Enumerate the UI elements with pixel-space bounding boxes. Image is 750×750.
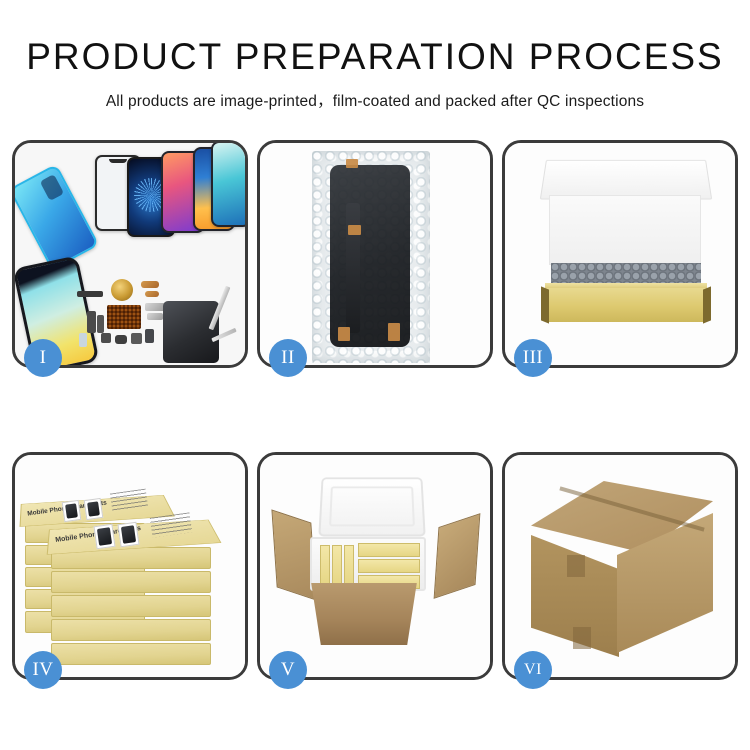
header: PRODUCT PREPARATION PROCESS All products… — [0, 38, 750, 111]
stacked-box-icon — [51, 643, 211, 665]
carton-flap-right-icon — [434, 513, 481, 599]
tape-piece-top-icon — [346, 159, 358, 168]
yellow-box-flat-icon — [358, 559, 420, 573]
logic-board-icon — [163, 301, 219, 363]
step-badge-1: I — [24, 339, 62, 377]
tape-piece-br-icon — [388, 323, 400, 341]
step-badge-5: V — [269, 651, 307, 689]
yellow-box-icon — [320, 545, 330, 587]
step-panel-4[interactable]: Mobile Phone Spare Parts Mobile Phone Sp… — [12, 452, 248, 680]
step-panel-5[interactable]: V — [257, 452, 493, 680]
sensor-part-icon — [97, 315, 104, 333]
metal-bracket-2-icon — [147, 313, 163, 320]
flex-cable-strip-icon — [346, 203, 360, 333]
connector-grid-icon — [107, 305, 141, 329]
step-panel-6[interactable]: VI — [502, 452, 738, 680]
camera-module-icon — [87, 311, 96, 333]
step-3-image — [505, 143, 735, 365]
speaker-part-icon — [77, 291, 103, 297]
foam-lid-icon — [318, 477, 425, 536]
stacked-box-icon — [51, 619, 211, 641]
bubble-wrap-bag-icon — [312, 151, 430, 363]
page-title: PRODUCT PREPARATION PROCESS — [0, 38, 750, 77]
step-1-image — [15, 143, 245, 365]
tape-piece-bl-icon — [338, 327, 350, 341]
wireless-coil-icon — [111, 279, 133, 301]
step-badge-2: II — [269, 339, 307, 377]
process-step-grid: I II — [12, 140, 738, 680]
blue-back-cover-icon — [15, 164, 99, 271]
stacked-box-icon — [51, 571, 211, 593]
lcd-assembly-icon — [330, 165, 410, 347]
flex-cable-small-icon — [145, 291, 159, 297]
step-6-image — [505, 455, 735, 677]
yellow-box-flat-icon — [358, 543, 420, 557]
stacked-box-icon — [51, 595, 211, 617]
box-window-rear-2-icon — [84, 498, 104, 520]
step-5-image — [260, 455, 490, 677]
carton-body-icon — [304, 583, 424, 645]
step-4-image: Mobile Phone Spare Parts Mobile Phone Sp… — [15, 455, 245, 677]
box-lid-open-icon — [540, 160, 712, 200]
product-preparation-infographic: PRODUCT PREPARATION PROCESS All products… — [0, 0, 750, 750]
step-badge-3: III — [514, 339, 552, 377]
sim-tray-icon — [145, 329, 154, 343]
yellow-box-icon — [344, 545, 354, 587]
vibrator-icon — [115, 335, 127, 344]
carton-tape-tab-lower-icon — [573, 627, 591, 649]
step-panel-3[interactable]: III — [502, 140, 738, 368]
tape-piece-mid-icon — [348, 225, 361, 235]
step-badge-4: IV — [24, 651, 62, 689]
battery-connector-icon — [79, 333, 87, 347]
box-window-front-2-icon — [117, 522, 139, 547]
foam-back-wall-icon — [549, 195, 701, 265]
step-panel-2[interactable]: II — [257, 140, 493, 368]
teal-gradient-phone-icon — [211, 143, 245, 227]
small-chip-icon — [101, 333, 111, 343]
step-panel-1[interactable]: I — [12, 140, 248, 368]
kraft-box-front-icon — [545, 288, 707, 322]
button-part-icon — [131, 333, 142, 344]
step-badge-6: VI — [514, 651, 552, 689]
yellow-box-icon — [332, 545, 342, 587]
foam-tray-icon — [310, 537, 426, 591]
page-subtitle: All products are image-printed，film-coat… — [0, 89, 750, 111]
box-window-rear-1-icon — [62, 500, 82, 522]
metal-bracket-icon — [145, 303, 165, 311]
flex-cable-icon — [141, 281, 159, 288]
step-2-image — [260, 143, 490, 365]
box-window-front-1-icon — [93, 524, 115, 549]
carton-tape-tab-upper-icon — [567, 555, 585, 577]
